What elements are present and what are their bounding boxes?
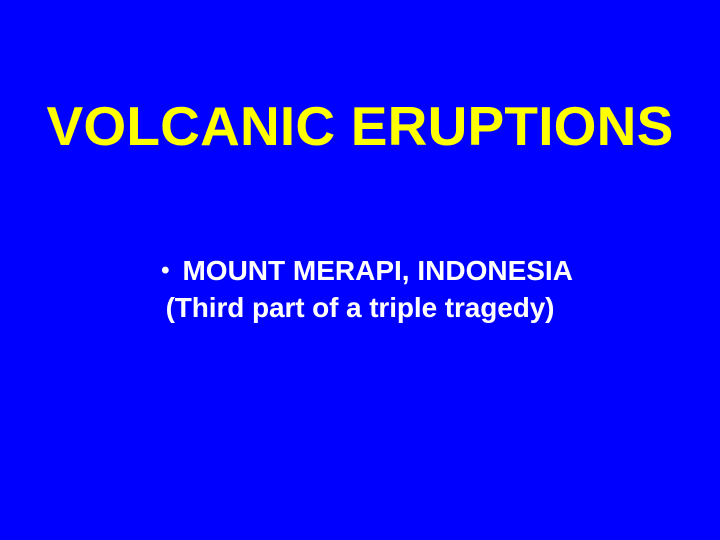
bullet-list-item-subtitle-label: (Third part of a triple tragedy) — [166, 292, 555, 323]
presentation-slide: VOLCANIC ERUPTIONS •MOUNT MERAPI, INDONE… — [0, 0, 720, 540]
bullet-list-item: •MOUNT MERAPI, INDONESIA — [0, 252, 720, 289]
bullet-list-item-label: MOUNT MERAPI, INDONESIA — [182, 255, 572, 286]
page-title: VOLCANIC ERUPTIONS — [47, 96, 674, 156]
bullet-list-item-continuation: (Third part of a triple tragedy) — [0, 289, 720, 326]
slide-title-placeholder: VOLCANIC ERUPTIONS — [0, 96, 720, 156]
slide-body-placeholder: •MOUNT MERAPI, INDONESIA (Third part of … — [0, 252, 720, 326]
bullet-point-icon: • — [161, 252, 169, 289]
